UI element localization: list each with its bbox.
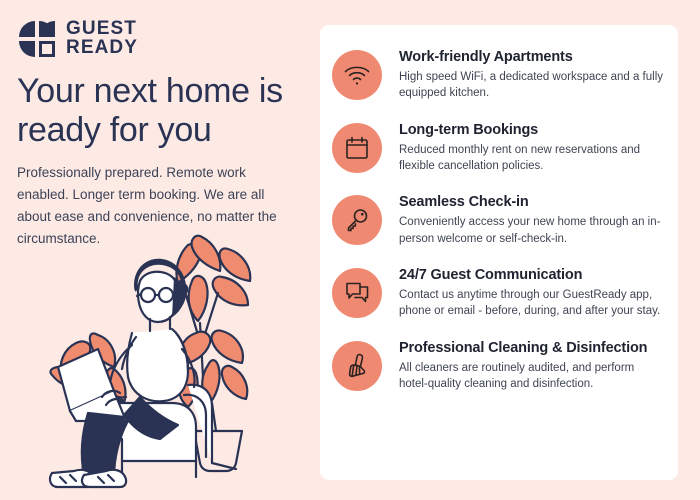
promo-page: GUEST READY Your next home is ready for … (0, 0, 700, 500)
chat-bubbles-icon (332, 268, 382, 318)
guestready-logo-mark-icon (17, 19, 57, 59)
feature-description: Contact us anytime through our GuestRead… (399, 287, 666, 320)
feature-title: Work-friendly Apartments (399, 49, 666, 65)
wifi-icon (332, 50, 382, 100)
feature-title: Professional Cleaning & Disinfection (399, 340, 666, 356)
key-icon (332, 195, 382, 245)
feature-text: Long-term Bookings Reduced monthly rent … (399, 120, 666, 175)
left-column: GUEST READY Your next home is ready for … (0, 0, 320, 500)
feature-text: 24/7 Guest Communication Contact us anyt… (399, 265, 666, 320)
feature-description: Reduced monthly rent on new reservations… (399, 142, 666, 175)
feature-description: All cleaners are routinely audited, and … (399, 360, 666, 393)
feature-item[interactable]: 24/7 Guest Communication Contact us anyt… (332, 265, 666, 320)
feature-title: 24/7 Guest Communication (399, 267, 666, 283)
feature-item[interactable]: Professional Cleaning & Disinfection All… (332, 338, 666, 393)
brand-logo[interactable]: GUEST READY (17, 19, 138, 59)
feature-title: Long-term Bookings (399, 122, 666, 138)
feature-title: Seamless Check-in (399, 194, 666, 210)
calendar-icon (332, 123, 382, 173)
feature-item[interactable]: Work-friendly Apartments High speed WiFi… (332, 47, 666, 102)
features-card: Work-friendly Apartments High speed WiFi… (320, 25, 678, 480)
feature-item[interactable]: Long-term Bookings Reduced monthly rent … (332, 120, 666, 175)
feature-description: Conveniently access your new home throug… (399, 214, 666, 247)
features-list: Work-friendly Apartments High speed WiFi… (320, 25, 678, 392)
logo-word-ready: READY (66, 39, 138, 58)
feature-description: High speed WiFi, a dedicated workspace a… (399, 69, 666, 102)
feature-text: Professional Cleaning & Disinfection All… (399, 338, 666, 393)
feature-text: Work-friendly Apartments High speed WiFi… (399, 47, 666, 102)
feature-text: Seamless Check-in Conveniently access yo… (399, 192, 666, 247)
cleaning-brush-icon (332, 341, 382, 391)
feature-item[interactable]: Seamless Check-in Conveniently access yo… (332, 192, 666, 247)
hero-illustration (36, 225, 311, 490)
page-title: Your next home is ready for you (17, 72, 307, 151)
